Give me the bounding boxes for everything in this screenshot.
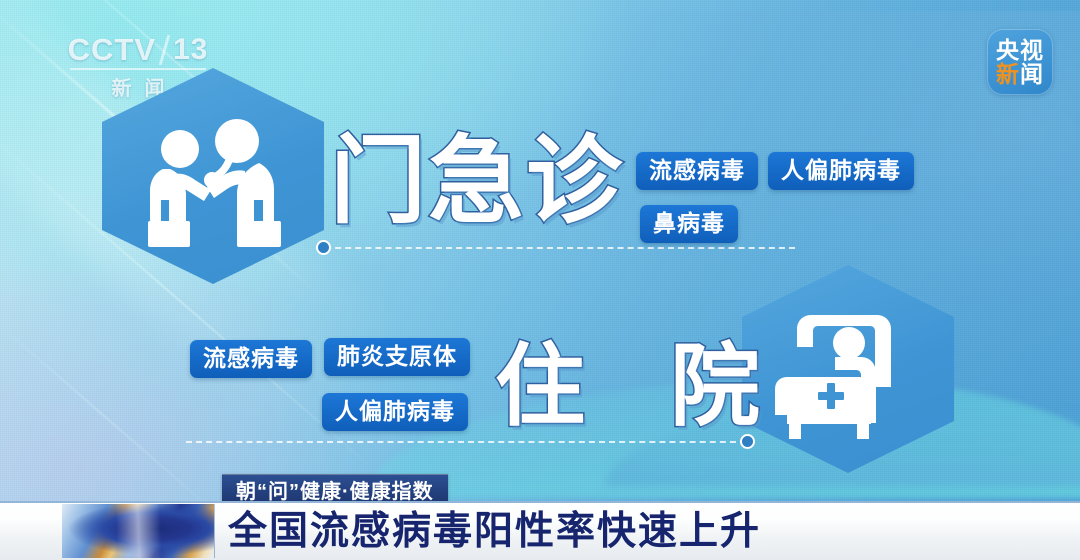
tag-inpatient-mycoplasma[interactable]: 肺炎支原体 (324, 338, 470, 376)
tag-outpatient-hmpv[interactable]: 人偏肺病毒 (768, 152, 914, 190)
tag-inpatient-hmpv[interactable]: 人偏肺病毒 (322, 393, 468, 431)
inpatient-baseline (186, 441, 746, 443)
tag-outpatient-rhinovirus[interactable]: 鼻病毒 (640, 205, 738, 243)
program-title-strip: 朝“问”健康·健康指数 (222, 474, 448, 504)
doctor-examining-patient-icon (133, 101, 293, 251)
outpatient-baseline (325, 247, 795, 249)
headline-bar: 全国流感病毒阳性率快速上升 (0, 501, 1080, 560)
cctv-news-app-logo: 央视 新闻 (987, 29, 1053, 95)
broadcast-emblem-icon (62, 504, 215, 558)
hospital-bed-patient-icon (773, 299, 923, 439)
background-noise (0, 0, 1080, 560)
outpatient-baseline-dot (316, 240, 331, 255)
cctv-news-logo-line1: 央视 (996, 39, 1044, 62)
tag-outpatient-influenza[interactable]: 流感病毒 (636, 152, 758, 190)
outpatient-heading: 门急诊 (330, 134, 624, 230)
inpatient-baseline-dot (740, 434, 755, 449)
tag-inpatient-influenza[interactable]: 流感病毒 (190, 340, 312, 378)
cctv-news-logo-char-news: 闻 (1020, 61, 1044, 87)
inpatient-heading: 住 院 (495, 342, 790, 432)
cctv-news-logo-char-new: 新 (996, 61, 1020, 87)
cctv-news-logo-line2: 新闻 (996, 63, 1044, 86)
headline-text: 全国流感病毒阳性率快速上升 (228, 510, 761, 555)
broadcast-frame: CCTV 13 新闻 央视 新闻 (0, 0, 1080, 560)
